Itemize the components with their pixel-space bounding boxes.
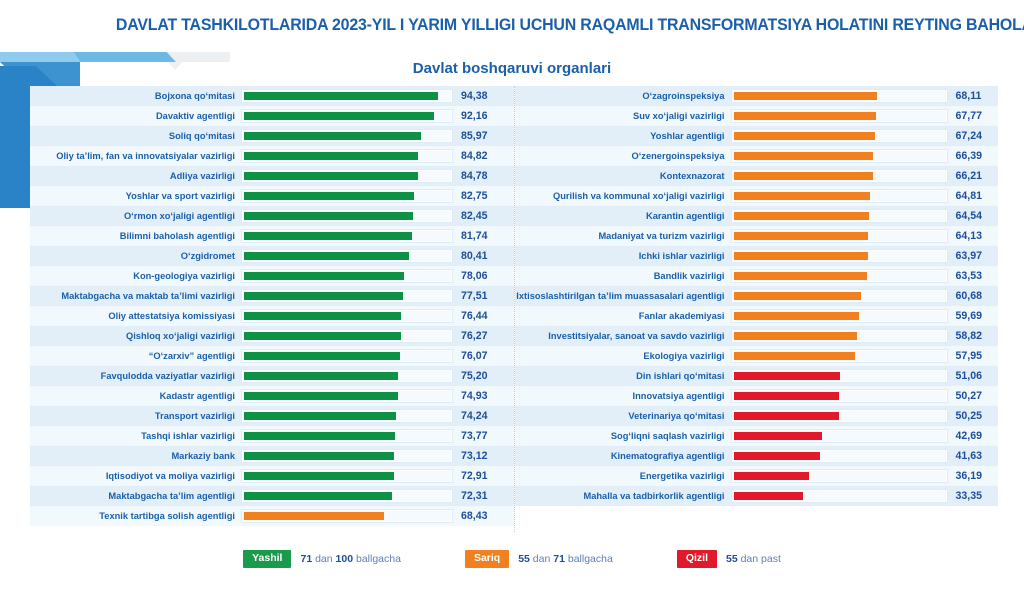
table-row: Mahalla va tadbirkorlik agentligi33,35: [515, 486, 999, 506]
row-value: 64,54: [954, 206, 999, 226]
row-label: Bandlik vazirligi: [515, 266, 732, 286]
bar-track: [732, 370, 947, 382]
table-row: O‘rmon xo‘jaligi agentligi82,45: [30, 206, 514, 226]
row-value: 58,82: [954, 326, 999, 346]
bar-fill-green: [244, 152, 418, 160]
table-row: Iqtisodiyot va moliya vazirligi72,91: [30, 466, 514, 486]
bar-fill-orange: [734, 212, 869, 220]
row-value: 41,63: [954, 446, 999, 466]
row-value: 66,39: [954, 146, 999, 166]
bar-track: [242, 250, 452, 262]
row-label: Innovatsiya agentligi: [515, 386, 732, 406]
row-value: 59,69: [954, 306, 999, 326]
bar-track: [242, 450, 452, 462]
bar-fill-orange: [734, 192, 870, 200]
legend-item-orange: Sariq55 dan 71 ballgacha: [465, 550, 613, 568]
bar-fill-green: [244, 172, 418, 180]
table-row: Karantin agentligi64,54: [515, 206, 999, 226]
row-label: Transport vazirligi: [30, 406, 242, 426]
legend-range-text: 71 dan 100 ballgacha: [300, 553, 400, 565]
bar-track: [242, 270, 452, 282]
row-value: 73,12: [459, 446, 514, 466]
row-label: Sog‘liqni saqlash vazirligi: [515, 426, 732, 446]
row-value: 72,31: [459, 486, 514, 506]
row-label: Markaziy bank: [30, 446, 242, 466]
row-label: Maktabgacha va maktab ta’limi vazirligi: [30, 286, 242, 306]
legend-chip: Qizil: [677, 550, 717, 568]
table-row: Adliya vazirligi84,78: [30, 166, 514, 186]
row-label: Kon-geologiya vazirligi: [30, 266, 242, 286]
row-value: 60,68: [954, 286, 999, 306]
row-value: 76,27: [459, 326, 514, 346]
row-value: 64,13: [954, 226, 999, 246]
row-label: Oliy attestatsiya komissiyasi: [30, 306, 242, 326]
bar-track: [242, 330, 452, 342]
table-row: Tashqi ishlar vazirligi73,77: [30, 426, 514, 446]
bar-track: [242, 370, 452, 382]
bar-track: [732, 430, 947, 442]
bar-fill-green: [244, 352, 400, 360]
table-row: Bandlik vazirligi63,53: [515, 266, 999, 286]
bar-fill-green: [244, 212, 413, 220]
row-value: 92,16: [459, 106, 514, 126]
bar-fill-orange: [734, 352, 855, 360]
bar-fill-red: [734, 452, 821, 460]
row-label: Ixtisoslashtirilgan ta’lim muassasalari …: [515, 286, 732, 306]
row-label: O‘rmon xo‘jaligi agentligi: [30, 206, 242, 226]
row-value: 33,35: [954, 486, 999, 506]
row-value: 64,81: [954, 186, 999, 206]
table-row: Investitsiyalar, sanoat va savdo vazirli…: [515, 326, 999, 346]
bar-fill-green: [244, 92, 438, 100]
page-subtitle: Davlat boshqaruvi organlari: [0, 60, 1024, 77]
bar-fill-red: [734, 472, 809, 480]
row-label: Kadastr agentligi: [30, 386, 242, 406]
table-row: O‘zgidromet80,41: [30, 246, 514, 266]
bar-track: [732, 170, 947, 182]
row-value: 72,91: [459, 466, 514, 486]
bar-fill-orange: [734, 92, 877, 100]
row-label: Karantin agentligi: [515, 206, 732, 226]
row-label: Ekologiya vazirligi: [515, 346, 732, 366]
row-label: Kinematografiya agentligi: [515, 446, 732, 466]
bar-track: [242, 230, 452, 242]
bar-fill-orange: [734, 332, 857, 340]
row-value: 73,77: [459, 426, 514, 446]
bar-track: [732, 330, 947, 342]
bar-track: [242, 490, 452, 502]
bar-track: [242, 470, 452, 482]
table-row: Bilimni baholash agentligi81,74: [30, 226, 514, 246]
table-row: Davaktiv agentligi92,16: [30, 106, 514, 126]
row-value: 81,74: [459, 226, 514, 246]
bar-track: [732, 210, 947, 222]
table-row: Suv xo‘jaligi vazirligi67,77: [515, 106, 999, 126]
row-label: Bilimni baholash agentligi: [30, 226, 242, 246]
row-label: “O‘zarxiv” agentligi: [30, 346, 242, 366]
bar-track: [732, 490, 947, 502]
row-label: Favqulodda vaziyatlar vazirligi: [30, 366, 242, 386]
table-row: Ekologiya vazirligi57,95: [515, 346, 999, 366]
table-row: Kinematografiya agentligi41,63: [515, 446, 999, 466]
bar-fill-orange: [734, 272, 867, 280]
bar-fill-green: [244, 412, 396, 420]
row-value: 94,38: [459, 86, 514, 106]
bar-track: [732, 450, 947, 462]
legend-item-red: Qizil55 dan past: [677, 550, 781, 568]
table-row: Qishloq xo‘jaligi vazirligi76,27: [30, 326, 514, 346]
bar-track: [242, 430, 452, 442]
table-row: Veterinariya qo‘mitasi50,25: [515, 406, 999, 426]
row-value: 68,43: [459, 506, 514, 526]
bar-fill-red: [734, 412, 839, 420]
row-value: 76,44: [459, 306, 514, 326]
legend-chip: Sariq: [465, 550, 509, 568]
bar-track: [242, 290, 452, 302]
row-value: 82,45: [459, 206, 514, 226]
row-label: Ichki ishlar vazirligi: [515, 246, 732, 266]
bar-fill-green: [244, 452, 394, 460]
bar-fill-orange: [734, 232, 869, 240]
bar-fill-red: [734, 492, 803, 500]
bar-track: [242, 210, 452, 222]
row-value: 74,24: [459, 406, 514, 426]
legend-chip: Yashil: [243, 550, 291, 568]
bar-track: [732, 310, 947, 322]
bar-track: [732, 390, 947, 402]
bar-track: [242, 110, 452, 122]
row-value: 67,77: [954, 106, 999, 126]
bar-fill-green: [244, 192, 414, 200]
table-row: O‘zagroinspeksiya68,11: [515, 86, 999, 106]
table-row: Ichki ishlar vazirligi63,97: [515, 246, 999, 266]
row-label: Din ishlari qo‘mitasi: [515, 366, 732, 386]
table-row: “O‘zarxiv” agentligi76,07: [30, 346, 514, 366]
bar-track: [242, 510, 452, 522]
table-row: Yoshlar va sport vazirligi82,75: [30, 186, 514, 206]
row-value: 84,82: [459, 146, 514, 166]
bar-fill-green: [244, 112, 434, 120]
row-label: Veterinariya qo‘mitasi: [515, 406, 732, 426]
row-label: Suv xo‘jaligi vazirligi: [515, 106, 732, 126]
row-label: Kontexnazorat: [515, 166, 732, 186]
row-value: 67,24: [954, 126, 999, 146]
bar-fill-green: [244, 492, 392, 500]
bar-track: [242, 390, 452, 402]
row-value: 63,97: [954, 246, 999, 266]
row-label: Fanlar akademiyasi: [515, 306, 732, 326]
bar-track: [732, 290, 947, 302]
row-value: 50,25: [954, 406, 999, 426]
bar-fill-orange: [734, 112, 876, 120]
row-label: Soliq qo‘mitasi: [30, 126, 242, 146]
row-value: 76,07: [459, 346, 514, 366]
bar-fill-green: [244, 132, 421, 140]
bar-track: [732, 110, 947, 122]
table-row: Kon-geologiya vazirligi78,06: [30, 266, 514, 286]
row-value: 77,51: [459, 286, 514, 306]
table-row: Transport vazirligi74,24: [30, 406, 514, 426]
bar-fill-green: [244, 332, 401, 340]
bar-fill-green: [244, 292, 403, 300]
bar-track: [732, 130, 947, 142]
table-row: Soliq qo‘mitasi85,97: [30, 126, 514, 146]
bar-track: [732, 410, 947, 422]
row-label: Tashqi ishlar vazirligi: [30, 426, 242, 446]
row-label: O‘zgidromet: [30, 246, 242, 266]
legend-item-green: Yashil71 dan 100 ballgacha: [243, 550, 401, 568]
row-label: Yoshlar va sport vazirligi: [30, 186, 242, 206]
table-row: Maktabgacha va maktab ta’limi vazirligi7…: [30, 286, 514, 306]
table-row: Din ishlari qo‘mitasi51,06: [515, 366, 999, 386]
bar-fill-red: [734, 432, 823, 440]
table-row: Kontexnazorat66,21: [515, 166, 999, 186]
table-row: Innovatsiya agentligi50,27: [515, 386, 999, 406]
bar-track: [732, 270, 947, 282]
table-row: Ixtisoslashtirilgan ta’lim muassasalari …: [515, 286, 999, 306]
row-value: 78,06: [459, 266, 514, 286]
bar-fill-green: [244, 252, 409, 260]
bar-fill-red: [734, 372, 841, 380]
table-row: Qurilish va kommunal xo‘jaligi vazirligi…: [515, 186, 999, 206]
bar-track: [732, 250, 947, 262]
table-row: Maktabgacha ta’lim agentligi72,31: [30, 486, 514, 506]
table-row: Kadastr agentligi74,93: [30, 386, 514, 406]
row-label: Mahalla va tadbirkorlik agentligi: [515, 486, 732, 506]
row-value: 42,69: [954, 426, 999, 446]
bar-track: [242, 90, 452, 102]
table-row: O‘zenergoinspeksiya66,39: [515, 146, 999, 166]
bar-track: [242, 350, 452, 362]
row-label: Madaniyat va turizm vazirligi: [515, 226, 732, 246]
row-value: 51,06: [954, 366, 999, 386]
bar-fill-orange: [734, 132, 875, 140]
row-value: 63,53: [954, 266, 999, 286]
chart-column-left: Bojxona qo‘mitasi94,38Davaktiv agentligi…: [30, 86, 514, 532]
row-value: 57,95: [954, 346, 999, 366]
row-value: 66,21: [954, 166, 999, 186]
bar-fill-orange: [734, 292, 861, 300]
row-value: 85,97: [459, 126, 514, 146]
table-row: Fanlar akademiyasi59,69: [515, 306, 999, 326]
rating-chart: Bojxona qo‘mitasi94,38Davaktiv agentligi…: [30, 86, 998, 532]
row-value: 50,27: [954, 386, 999, 406]
bar-fill-green: [244, 312, 401, 320]
bar-fill-orange: [734, 252, 868, 260]
bar-fill-green: [244, 232, 412, 240]
chart-column-right: O‘zagroinspeksiya68,11Suv xo‘jaligi vazi…: [514, 86, 999, 532]
table-row: Texnik tartibga solish agentligi68,43: [30, 506, 514, 526]
row-value: 75,20: [459, 366, 514, 386]
bar-fill-green: [244, 432, 395, 440]
bar-fill-green: [244, 392, 398, 400]
table-row: Favqulodda vaziyatlar vazirligi75,20: [30, 366, 514, 386]
row-value: 80,41: [459, 246, 514, 266]
row-label: Oliy ta’lim, fan va innovatsiyalar vazir…: [30, 146, 242, 166]
row-value: 74,93: [459, 386, 514, 406]
row-label: Maktabgacha ta’lim agentligi: [30, 486, 242, 506]
row-label: O‘zagroinspeksiya: [515, 86, 732, 106]
row-label: O‘zenergoinspeksiya: [515, 146, 732, 166]
bar-fill-green: [244, 472, 394, 480]
bar-track: [242, 190, 452, 202]
row-label: Texnik tartibga solish agentligi: [30, 506, 242, 526]
bar-track: [242, 150, 452, 162]
bar-fill-orange: [244, 512, 384, 520]
bar-track: [242, 410, 452, 422]
row-label: Qishloq xo‘jaligi vazirligi: [30, 326, 242, 346]
bar-fill-green: [244, 372, 398, 380]
bar-track: [732, 230, 947, 242]
bar-track: [732, 90, 947, 102]
table-row: Oliy ta’lim, fan va innovatsiyalar vazir…: [30, 146, 514, 166]
legend-range-text: 55 dan 71 ballgacha: [518, 553, 613, 565]
table-row: Energetika vazirligi36,19: [515, 466, 999, 486]
legend-range-text: 55 dan past: [726, 553, 781, 565]
row-label: Investitsiyalar, sanoat va savdo vazirli…: [515, 326, 732, 346]
bar-fill-orange: [734, 312, 859, 320]
row-label: Iqtisodiyot va moliya vazirligi: [30, 466, 242, 486]
row-label: Davaktiv agentligi: [30, 106, 242, 126]
table-row: Bojxona qo‘mitasi94,38: [30, 86, 514, 106]
bar-fill-orange: [734, 152, 873, 160]
page-title: DAVLAT TASHKILOTLARIDA 2023-YIL I YARIM …: [116, 16, 994, 35]
row-label: Bojxona qo‘mitasi: [30, 86, 242, 106]
row-value: 82,75: [459, 186, 514, 206]
bar-fill-green: [244, 272, 404, 280]
bar-track: [732, 150, 947, 162]
bar-fill-orange: [734, 172, 873, 180]
row-label: Yoshlar agentligi: [515, 126, 732, 146]
row-value: 36,19: [954, 466, 999, 486]
table-row: Markaziy bank73,12: [30, 446, 514, 466]
row-label: Qurilish va kommunal xo‘jaligi vazirligi: [515, 186, 732, 206]
bar-track: [732, 190, 947, 202]
bar-track: [242, 310, 452, 322]
table-row: Yoshlar agentligi67,24: [515, 126, 999, 146]
bar-track: [732, 350, 947, 362]
bar-track: [242, 170, 452, 182]
bar-fill-red: [734, 392, 839, 400]
row-value: 68,11: [954, 86, 999, 106]
row-label: Energetika vazirligi: [515, 466, 732, 486]
table-row: Madaniyat va turizm vazirligi64,13: [515, 226, 999, 246]
row-value: 84,78: [459, 166, 514, 186]
table-row: Oliy attestatsiya komissiyasi76,44: [30, 306, 514, 326]
legend: Yashil71 dan 100 ballgachaSariq55 dan 71…: [0, 544, 1024, 574]
bar-track: [732, 470, 947, 482]
row-label: Adliya vazirligi: [30, 166, 242, 186]
bar-track: [242, 130, 452, 142]
table-row: Sog‘liqni saqlash vazirligi42,69: [515, 426, 999, 446]
